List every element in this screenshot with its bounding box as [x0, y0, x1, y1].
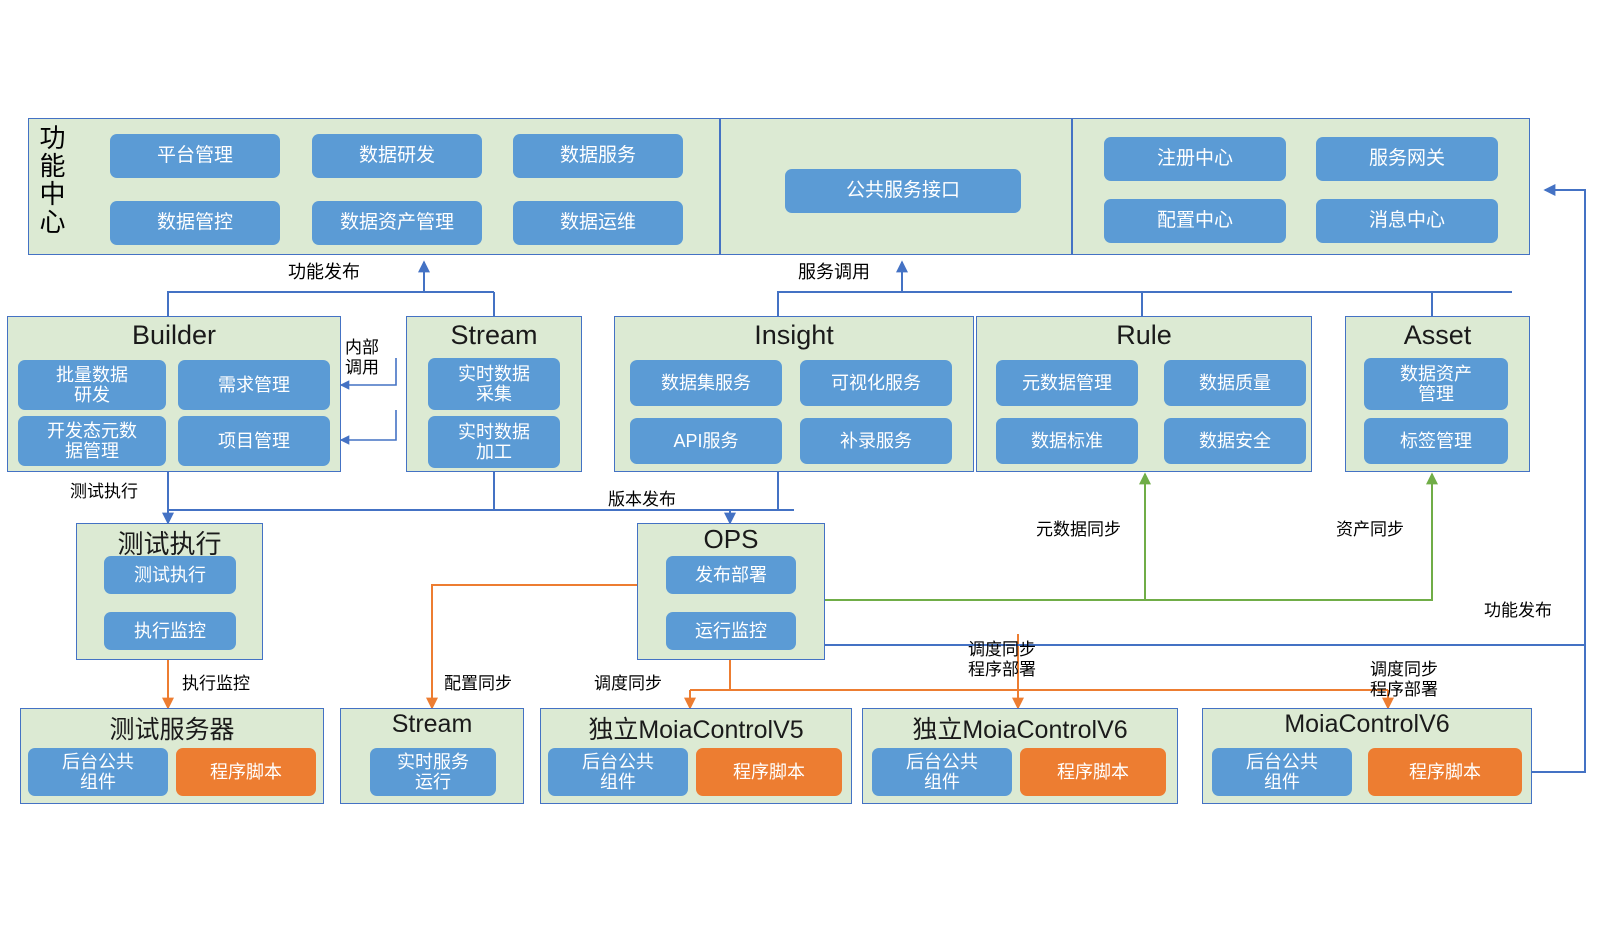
chip-program-script-v6[interactable]: 程序脚本 — [1368, 748, 1522, 796]
chip-project-management[interactable]: 项目管理 — [178, 416, 330, 466]
label-metadata-sync: 元数据同步 — [1036, 520, 1121, 540]
chip-data-security[interactable]: 数据安全 — [1164, 418, 1306, 464]
chip-api-service[interactable]: API服务 — [630, 418, 782, 464]
chip-realtime-data-processing[interactable]: 实时数据 加工 — [428, 416, 560, 468]
label-internal-call: 内部 调用 — [345, 338, 379, 377]
label-version-publish: 版本发布 — [608, 490, 676, 510]
chip-program-script-v5[interactable]: 程序脚本 — [696, 748, 842, 796]
group-rule-title: Rule — [976, 320, 1312, 351]
chip-data-service[interactable]: 数据服务 — [513, 134, 683, 178]
chip-service-gateway[interactable]: 服务网关 — [1316, 137, 1498, 181]
chip-registry-center[interactable]: 注册中心 — [1104, 137, 1286, 181]
label-schedule-deploy-right: 调度同步 程序部署 — [1370, 660, 1438, 699]
wire-test-execute — [168, 472, 794, 523]
chip-program-script-v6s[interactable]: 程序脚本 — [1020, 748, 1166, 796]
group-insight-title: Insight — [614, 320, 974, 351]
group-asset-title: Asset — [1345, 320, 1530, 351]
group-stream-title: Stream — [406, 320, 582, 351]
group-moia-v6-standalone-title: 独立MoiaControlV6 — [862, 710, 1178, 746]
label-config-sync: 配置同步 — [444, 674, 512, 694]
chip-backend-common-component-v6[interactable]: 后台公共 组件 — [1212, 748, 1352, 796]
chip-data-operations[interactable]: 数据运维 — [513, 201, 683, 245]
chip-platform-management[interactable]: 平台管理 — [110, 134, 280, 178]
chip-runtime-monitor[interactable]: 运行监控 — [666, 612, 796, 650]
chip-backend-common-component-v6s[interactable]: 后台公共 组件 — [872, 748, 1012, 796]
chip-backend-common-component-test[interactable]: 后台公共 组件 — [28, 748, 168, 796]
chip-test-execution[interactable]: 测试执行 — [104, 556, 236, 594]
chip-dataset-service[interactable]: 数据集服务 — [630, 360, 782, 406]
label-service-call: 服务调用 — [798, 262, 870, 283]
chip-visualization-service[interactable]: 可视化服务 — [800, 360, 952, 406]
chip-realtime-data-collection[interactable]: 实时数据 采集 — [428, 358, 560, 410]
label-feature-publish-top: 功能发布 — [288, 262, 360, 283]
label-asset-sync: 资产同步 — [1336, 520, 1404, 540]
chip-data-development[interactable]: 数据研发 — [312, 134, 482, 178]
group-moia-v6-title: MoiaControlV6 — [1202, 710, 1532, 739]
label-exec-monitor: 执行监控 — [182, 674, 250, 694]
chip-metadata-management[interactable]: 元数据管理 — [996, 360, 1138, 406]
function-center-side-label: 功能中心 — [38, 124, 64, 250]
chip-batch-data-development[interactable]: 批量数据 研发 — [18, 360, 166, 410]
chip-public-service-interface[interactable]: 公共服务接口 — [785, 169, 1021, 213]
chip-data-asset-mgmt[interactable]: 数据资产 管理 — [1364, 358, 1508, 410]
chip-data-asset-management[interactable]: 数据资产管理 — [312, 201, 482, 245]
wire-feature-publish-right — [1532, 190, 1585, 772]
group-builder-title: Builder — [7, 320, 341, 351]
chip-config-center[interactable]: 配置中心 — [1104, 199, 1286, 243]
chip-message-center[interactable]: 消息中心 — [1316, 199, 1498, 243]
label-test-execute: 测试执行 — [70, 482, 138, 502]
chip-program-script-test[interactable]: 程序脚本 — [176, 748, 316, 796]
wire-service-call — [778, 262, 1512, 316]
chip-backend-common-component-v5[interactable]: 后台公共 组件 — [548, 748, 688, 796]
group-test-server-title: 测试服务器 — [20, 710, 324, 746]
function-center-divider-2 — [1071, 118, 1073, 255]
chip-requirement-management[interactable]: 需求管理 — [178, 360, 330, 410]
chip-data-quality[interactable]: 数据质量 — [1164, 360, 1306, 406]
architecture-diagram: 功能中心 平台管理 数据研发 数据服务 数据管控 数据资产管理 数据运维 公共服… — [0, 0, 1611, 940]
chip-backfill-service[interactable]: 补录服务 — [800, 418, 952, 464]
label-schedule-deploy-mid: 调度同步 程序部署 — [968, 640, 1036, 679]
function-center-divider-1 — [719, 118, 721, 255]
chip-tag-management[interactable]: 标签管理 — [1364, 418, 1508, 464]
group-moia-v5-standalone-title: 独立MoiaControlV5 — [540, 710, 852, 746]
chip-data-standard[interactable]: 数据标准 — [996, 418, 1138, 464]
group-ops-title: OPS — [637, 524, 825, 555]
label-feature-publish-right: 功能发布 — [1484, 601, 1552, 621]
chip-execution-monitor[interactable]: 执行监控 — [104, 612, 236, 650]
label-schedule-sync: 调度同步 — [594, 674, 662, 694]
chip-data-governance[interactable]: 数据管控 — [110, 201, 280, 245]
chip-realtime-service-run[interactable]: 实时服务 运行 — [370, 748, 496, 796]
group-stream-server-title: Stream — [340, 710, 524, 739]
chip-release-deploy[interactable]: 发布部署 — [666, 556, 796, 594]
chip-dev-metadata-management[interactable]: 开发态元数 据管理 — [18, 416, 166, 466]
